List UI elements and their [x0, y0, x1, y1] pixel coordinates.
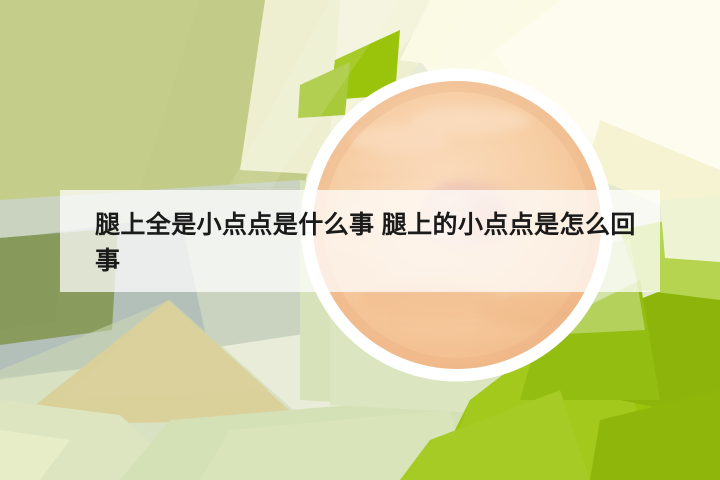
page-title: 腿上全是小点点是什么事 腿上的小点点是怎么回事: [95, 207, 640, 279]
article-thumbnail-card: 腿上全是小点点是什么事 腿上的小点点是怎么回事: [0, 0, 720, 480]
